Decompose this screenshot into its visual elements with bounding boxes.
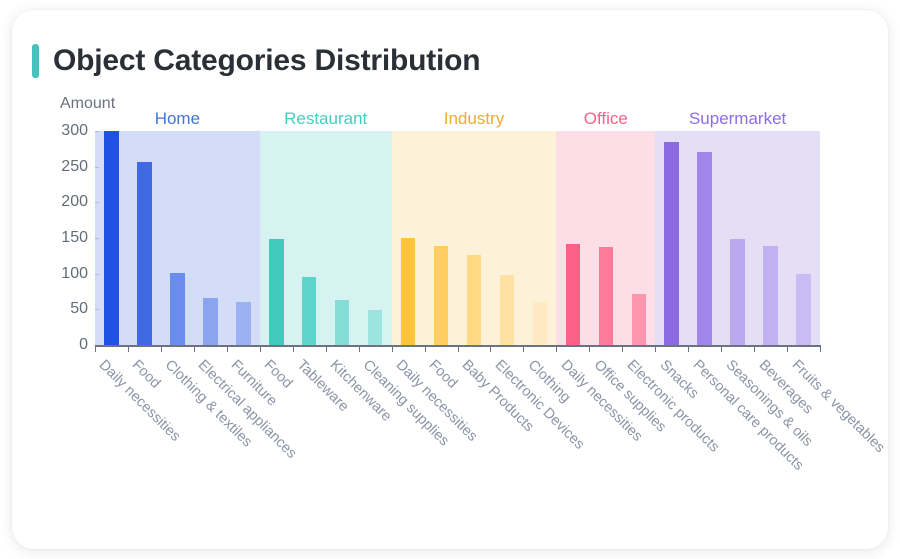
y-gridline <box>95 131 99 132</box>
y-gridline <box>95 274 99 275</box>
x-tick <box>128 345 129 352</box>
x-tick <box>688 345 689 352</box>
group-label-restaurant: Restaurant <box>284 109 367 129</box>
y-tick-label: 0 <box>79 336 88 354</box>
x-tick <box>754 345 755 352</box>
bar[interactable] <box>236 302 251 346</box>
bar[interactable] <box>730 239 745 345</box>
y-tick-label: 250 <box>61 158 88 176</box>
x-tick <box>721 345 722 352</box>
bar[interactable] <box>335 300 350 345</box>
bar[interactable] <box>467 255 482 345</box>
chart-card: Object Categories Distribution Amount 05… <box>12 10 888 549</box>
y-gridline <box>95 167 99 168</box>
y-axis-ticks: 050100150200250300 <box>46 10 88 549</box>
x-tick <box>556 345 557 352</box>
x-tick <box>523 345 524 352</box>
bar[interactable] <box>434 246 449 345</box>
y-tick-label: 100 <box>61 265 88 283</box>
x-tick <box>95 345 96 352</box>
bar[interactable] <box>664 142 679 345</box>
x-tick <box>425 345 426 352</box>
x-tick <box>227 345 228 352</box>
bar[interactable] <box>203 298 218 345</box>
bar-series <box>95 131 820 345</box>
x-tick <box>161 345 162 352</box>
bar[interactable] <box>599 247 614 345</box>
y-tick-label: 50 <box>70 300 88 318</box>
y-tick-label: 300 <box>61 122 88 140</box>
bar[interactable] <box>763 246 778 345</box>
bar[interactable] <box>796 274 811 345</box>
bar[interactable] <box>104 131 119 345</box>
bar[interactable] <box>632 294 647 345</box>
x-tick <box>820 345 821 352</box>
bar[interactable] <box>697 152 712 345</box>
bar[interactable] <box>302 277 317 345</box>
y-tick-label: 200 <box>61 193 88 211</box>
group-label-home: Home <box>155 109 200 129</box>
bar[interactable] <box>533 302 548 346</box>
x-tick <box>260 345 261 352</box>
group-label-industry: Industry <box>444 109 504 129</box>
bar[interactable] <box>368 310 383 345</box>
x-tick <box>589 345 590 352</box>
y-gridline <box>95 309 99 310</box>
bar[interactable] <box>566 244 581 345</box>
x-tick <box>326 345 327 352</box>
bar[interactable] <box>137 162 152 345</box>
y-gridline <box>95 238 99 239</box>
x-tick <box>622 345 623 352</box>
x-tick <box>655 345 656 352</box>
bar[interactable] <box>401 238 416 345</box>
y-gridline <box>95 202 99 203</box>
group-label-supermarket: Supermarket <box>689 109 786 129</box>
x-tick <box>490 345 491 352</box>
x-tick <box>194 345 195 352</box>
x-tick <box>392 345 393 352</box>
bar[interactable] <box>269 239 284 345</box>
x-tick <box>458 345 459 352</box>
bar[interactable] <box>170 273 185 345</box>
x-tick <box>787 345 788 352</box>
bar[interactable] <box>500 275 515 345</box>
y-tick-label: 150 <box>61 229 88 247</box>
x-tick <box>359 345 360 352</box>
group-label-office: Office <box>584 109 628 129</box>
chart-plot: 050100150200250300 HomeRestaurantIndustr… <box>12 10 888 549</box>
x-tick <box>293 345 294 352</box>
